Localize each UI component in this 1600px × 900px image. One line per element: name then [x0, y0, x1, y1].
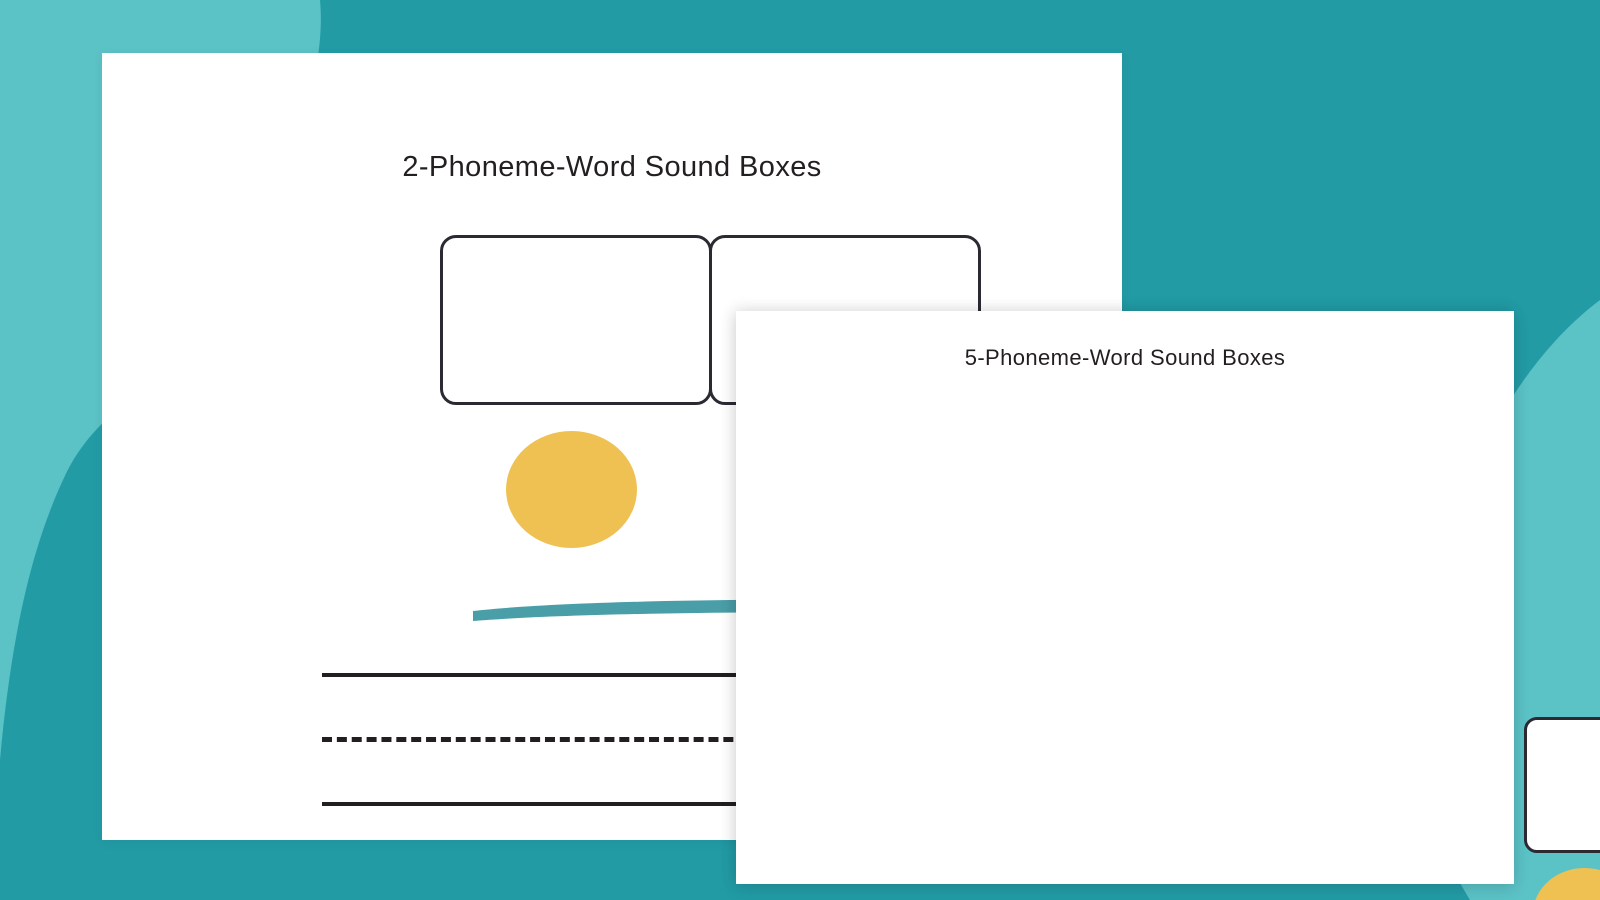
sound-box-row [1524, 717, 1600, 853]
sound-box[interactable] [440, 235, 712, 405]
token-row [1533, 868, 1600, 900]
token-yellow[interactable] [506, 431, 637, 548]
token-yellow[interactable] [1533, 868, 1600, 900]
worksheet-card-5-phoneme[interactable]: 5-Phoneme-Word Sound Boxes [736, 311, 1514, 884]
page-title: 2-Phoneme-Word Sound Boxes [102, 151, 1122, 184]
page-title: 5-Phoneme-Word Sound Boxes [736, 345, 1514, 371]
worksheet-preview-stage: 2-Phoneme-Word Sound Boxes 5-Phoneme-Wor… [0, 0, 1600, 900]
sound-box[interactable] [1524, 717, 1600, 853]
